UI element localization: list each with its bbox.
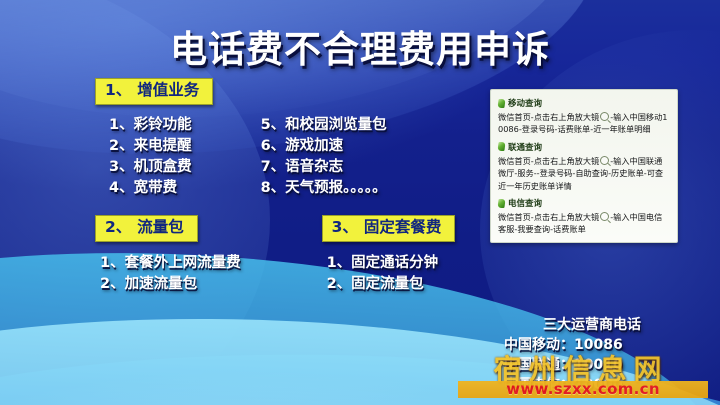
leaf-icon — [497, 99, 505, 108]
hotline-telecom: 中国电信：10000 — [492, 375, 692, 395]
query-telecom-steps: 微信首页-点击右上角放大镜-输入中国电信客服-我要查询-话费账单 — [498, 211, 670, 236]
section-row-2-3: 2、流量包 1、套餐外上网流量费 2、加速流量包 3、固定套餐费 1、固定通话分… — [95, 215, 470, 295]
hotline-mobile: 中国移动：10086 — [492, 335, 692, 355]
query-unicom-steps: 微信首页-点击右上角放大镜-输入中国联通微厅-服务--登录号码-自助查询-历史账… — [498, 155, 670, 192]
section-data-packages: 2、流量包 1、套餐外上网流量费 2、加速流量包 — [95, 215, 241, 295]
section-1-number: 1、 — [105, 81, 131, 99]
leaf-icon — [497, 142, 505, 151]
content-left-column: 1、增值业务 1、彩铃功能 2、来电提醒 3、机顶盒费 4、宽带费 5、和校园浏… — [0, 78, 470, 295]
section-1-list-a: 1、彩铃功能 2、来电提醒 3、机顶盒费 4、宽带费 — [109, 115, 192, 199]
carrier-hotline-block: 三大运营商电话 中国移动：10086 中国联通：10010 中国电信：10000 — [492, 316, 692, 395]
list-item: 1、套餐外上网流量费 — [100, 253, 241, 274]
query-mobile-steps: 微信首页-点击右上角放大镜-输入中国移动10086-登录号码-话费账单-近一年账… — [498, 111, 670, 136]
query-telecom-heading: 电信查询 — [498, 197, 670, 209]
list-item: 8、天气预报。。。。。 — [261, 178, 387, 199]
query-mobile-steps-before: 微信首页-点击右上角放大镜 — [498, 112, 599, 122]
list-item: 5、和校园浏览量包 — [261, 115, 387, 136]
section-2-list: 1、套餐外上网流量费 2、加速流量包 — [100, 253, 241, 295]
query-telecom-title: 电信查询 — [508, 197, 542, 209]
section-2-number: 2、 — [105, 218, 131, 236]
query-instructions-panel: 移动查询 微信首页-点击右上角放大镜-输入中国移动10086-登录号码-话费账单… — [490, 89, 678, 243]
query-block-unicom: 联通查询 微信首页-点击右上角放大镜-输入中国联通微厅-服务--登录号码-自助查… — [498, 141, 670, 192]
query-block-mobile: 移动查询 微信首页-点击右上角放大镜-输入中国移动10086-登录号码-话费账单… — [498, 97, 670, 136]
query-mobile-title: 移动查询 — [508, 97, 542, 109]
section-2-heading: 2、流量包 — [95, 215, 198, 242]
section-3-number: 3、 — [332, 218, 358, 236]
section-fixed-plan-fees: 3、固定套餐费 1、固定通话分钟 2、固定流量包 — [322, 215, 456, 295]
section-2-label: 流量包 — [137, 218, 184, 236]
section-1-list-b: 5、和校园浏览量包 6、游戏加速 7、语音杂志 8、天气预报。。。。。 — [261, 115, 387, 199]
leaf-icon — [497, 199, 505, 208]
section-1-label: 增值业务 — [137, 81, 199, 99]
section-3-list: 1、固定通话分钟 2、固定流量包 — [327, 253, 456, 295]
section-3-heading: 3、固定套餐费 — [322, 215, 456, 242]
list-item: 2、固定流量包 — [327, 274, 456, 295]
list-item: 4、宽带费 — [109, 178, 192, 199]
section-value-added-services: 1、增值业务 1、彩铃功能 2、来电提醒 3、机顶盒费 4、宽带费 5、和校园浏… — [95, 78, 470, 199]
query-unicom-title: 联通查询 — [508, 141, 542, 153]
list-item: 2、来电提醒 — [109, 136, 192, 157]
query-telecom-steps-before: 微信首页-点击右上角放大镜 — [498, 212, 599, 222]
section-3-label: 固定套餐费 — [364, 218, 442, 236]
page-title: 电话费不合理费用申诉 — [0, 19, 720, 73]
list-item: 7、语音杂志 — [261, 157, 387, 178]
query-mobile-heading: 移动查询 — [498, 97, 670, 109]
section-1-lists: 1、彩铃功能 2、来电提醒 3、机顶盒费 4、宽带费 5、和校园浏览量包 6、游… — [95, 115, 470, 199]
query-unicom-steps-before: 微信首页-点击右上角放大镜 — [498, 156, 599, 166]
slide-canvas: 电话费不合理费用申诉 1、增值业务 1、彩铃功能 2、来电提醒 3、机顶盒费 4… — [0, 0, 720, 405]
hotline-title: 三大运营商电话 — [492, 316, 692, 335]
list-item: 3、机顶盒费 — [109, 157, 192, 178]
magnifier-icon — [600, 112, 609, 121]
list-item: 1、彩铃功能 — [109, 115, 192, 136]
magnifier-icon — [600, 212, 609, 221]
query-block-telecom: 电信查询 微信首页-点击右上角放大镜-输入中国电信客服-我要查询-话费账单 — [498, 197, 670, 236]
list-item: 1、固定通话分钟 — [327, 253, 456, 274]
section-1-heading: 1、增值业务 — [95, 78, 213, 105]
list-item: 6、游戏加速 — [261, 136, 387, 157]
list-item: 2、加速流量包 — [100, 274, 241, 295]
magnifier-icon — [600, 156, 609, 165]
hotline-unicom: 中国联通：10010 — [492, 355, 692, 375]
query-unicom-heading: 联通查询 — [498, 141, 670, 153]
